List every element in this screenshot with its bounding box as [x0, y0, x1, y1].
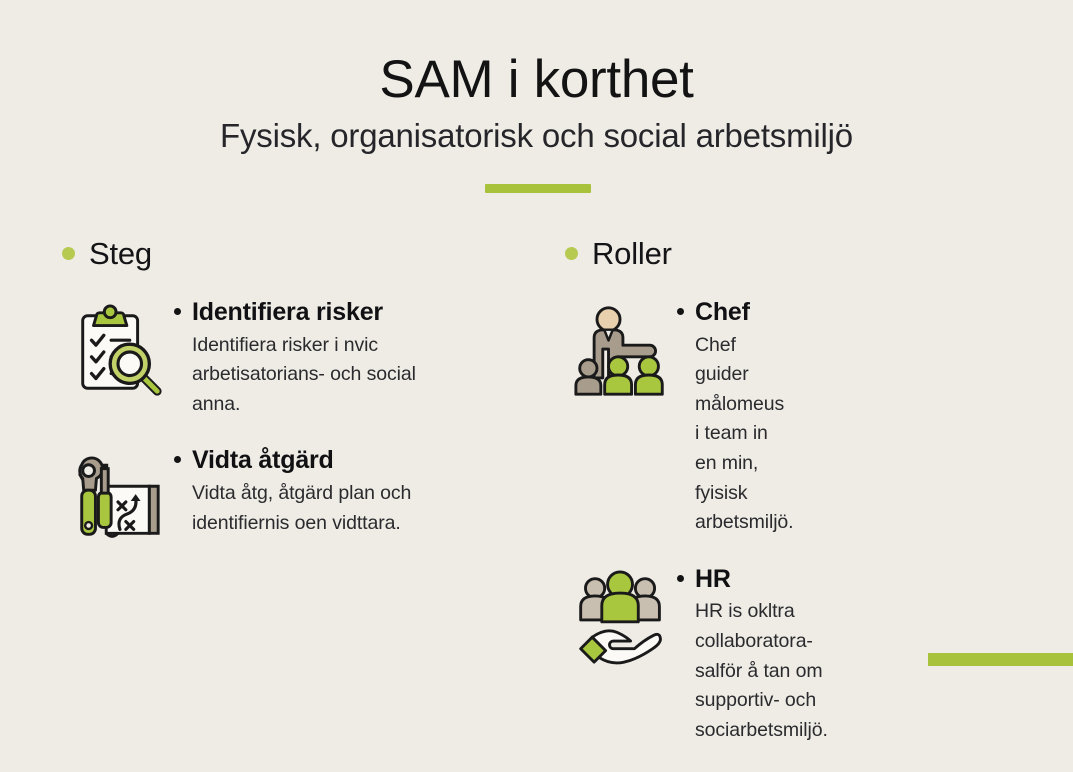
list-item-text: Chef guider målomeus i team in en min, f… — [695, 331, 794, 538]
list-item-body: HR HR is okltra collaboratora- salför å … — [677, 564, 828, 746]
item-bullet-icon — [174, 308, 181, 315]
slide: SAM i korthet Fysisk, organisatorisk och… — [0, 0, 1073, 720]
leader-presenting-team-icon — [565, 297, 677, 399]
page-subtitle: Fysisk, organisatorisk och social arbets… — [0, 117, 1073, 155]
item-bullet-icon — [677, 575, 684, 582]
people-in-hand-icon — [565, 564, 677, 666]
list-item-title: HR — [695, 566, 731, 594]
list-item-text: HR is okltra collaboratora- salför å tan… — [695, 597, 828, 745]
section-bullet-icon — [565, 247, 578, 260]
footer-accent-bar — [928, 653, 1073, 666]
list-item-title-row: HR — [677, 566, 828, 594]
section-title-roller: Roller — [592, 238, 672, 269]
list-item-title-row: Chef — [677, 299, 794, 327]
list-item-title: Chef — [695, 299, 750, 327]
content-columns: Steg — [0, 238, 1073, 772]
column-roller: Roller — [0, 238, 565, 772]
list-item-body: Chef Chef guider målomeus i team in en m… — [677, 297, 794, 538]
page-title: SAM i korthet — [0, 52, 1073, 108]
title-divider — [485, 184, 591, 193]
item-bullet-icon — [677, 308, 684, 315]
header: SAM i korthet Fysisk, organisatorisk och… — [0, 52, 1073, 155]
